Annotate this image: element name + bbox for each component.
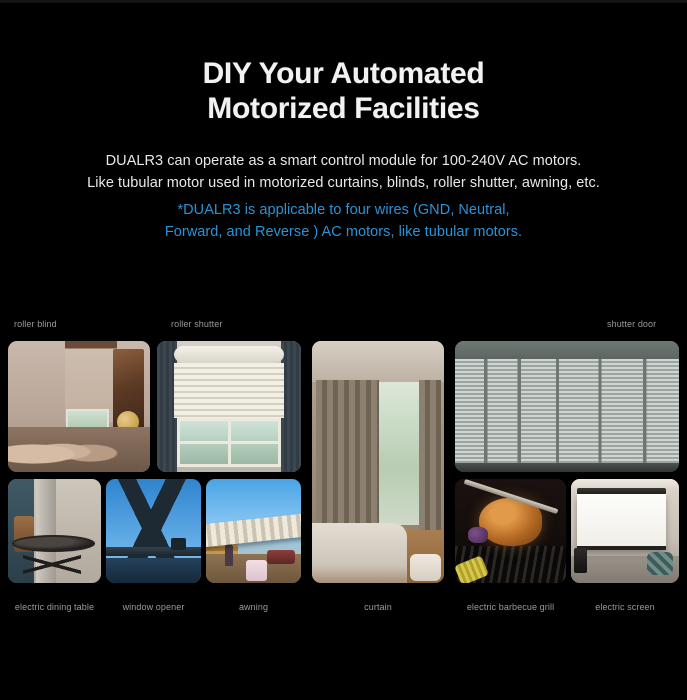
shutter-slats-shape (174, 363, 283, 418)
hero-section: DIY Your Automated Motorized Facilities … (0, 56, 687, 243)
hero-note-line-2: Forward, and Reverse ) AC motors, like t… (0, 221, 687, 243)
vase-shape (117, 411, 139, 433)
caption-window-opener: window opener (106, 601, 201, 613)
caption-electric-dining-table: electric dining table (8, 601, 101, 613)
reflection-shape (106, 558, 201, 583)
caption-electric-screen: electric screen (571, 601, 679, 613)
person-shape (225, 544, 233, 567)
electric-barbecue-grill-image (455, 479, 566, 583)
ottoman-shape (647, 552, 673, 575)
hero-description-line-2: Like tubular motor used in motorized cur… (0, 172, 687, 194)
table-legs-shape (23, 550, 81, 579)
gallery-tile-electric-barbecue-grill[interactable] (455, 479, 566, 583)
gallery-tile-electric-dining-table[interactable] (8, 479, 101, 583)
hinge-shape (171, 538, 186, 549)
sheer-curtain-shape (379, 382, 419, 525)
projection-canvas-shape (577, 494, 666, 550)
top-edge-bar (0, 0, 687, 3)
right-panel-shape (281, 341, 301, 472)
gallery-tile-shutter-door[interactable] (455, 341, 679, 472)
gallery-tile-curtain[interactable] (312, 341, 444, 583)
door-dividers-shape (455, 359, 679, 472)
awning-canopy-shape (206, 513, 301, 546)
hero-description: DUALR3 can operate as a smart control mo… (0, 150, 687, 194)
curtain-drape-left-shape (316, 380, 379, 530)
electric-screen-image (571, 479, 679, 583)
page-title: DIY Your Automated Motorized Facilities (0, 56, 687, 126)
hero-note-line-1: *DUALR3 is applicable to four wires (GND… (0, 199, 687, 221)
gallery-tile-awning[interactable] (206, 479, 301, 583)
gallery-tile-roller-blind[interactable] (8, 341, 150, 472)
gallery-tile-window-opener[interactable] (106, 479, 201, 583)
sofa-shape (267, 550, 296, 565)
window-shape (177, 418, 281, 466)
curtain-image (312, 341, 444, 583)
caption-roller-shutter: roller shutter (171, 318, 222, 330)
gallery-tile-electric-screen[interactable] (571, 479, 679, 583)
shutter-box-shape (174, 346, 283, 363)
curtain-drape-right-shape (419, 380, 441, 530)
bed-shape (312, 523, 407, 584)
application-gallery: roller blind roller shutter shutter door (0, 312, 687, 622)
page-title-line-1: DIY Your Automated (203, 57, 485, 90)
hero-description-line-1: DUALR3 can operate as a smart control mo… (0, 150, 687, 172)
window-opener-image (106, 479, 201, 583)
speaker-shape (574, 548, 587, 573)
ceiling-shape (312, 341, 444, 382)
page-title-line-2: Motorized Facilities (207, 92, 479, 125)
ground-shape (455, 463, 679, 472)
shutter-door-image (455, 341, 679, 472)
gallery-tile-roller-shutter[interactable] (157, 341, 301, 472)
window-bar-shape (106, 547, 201, 556)
roller-blind-image (8, 341, 150, 472)
hero-note: *DUALR3 is applicable to four wires (GND… (0, 199, 687, 243)
roller-shutter-image (157, 341, 301, 472)
caption-curtain: curtain (312, 601, 444, 613)
caption-shutter-door: shutter door (607, 318, 656, 330)
vegetable-shape (468, 527, 488, 544)
caption-awning: awning (206, 601, 301, 613)
caption-electric-barbecue-grill: electric barbecue grill (455, 601, 566, 613)
cake-shape (246, 560, 267, 581)
awning-image (206, 479, 301, 583)
caption-roller-blind: roller blind (14, 318, 57, 330)
rug-shape (410, 554, 442, 581)
window-shape (66, 409, 109, 443)
electric-dining-table-image (8, 479, 101, 583)
